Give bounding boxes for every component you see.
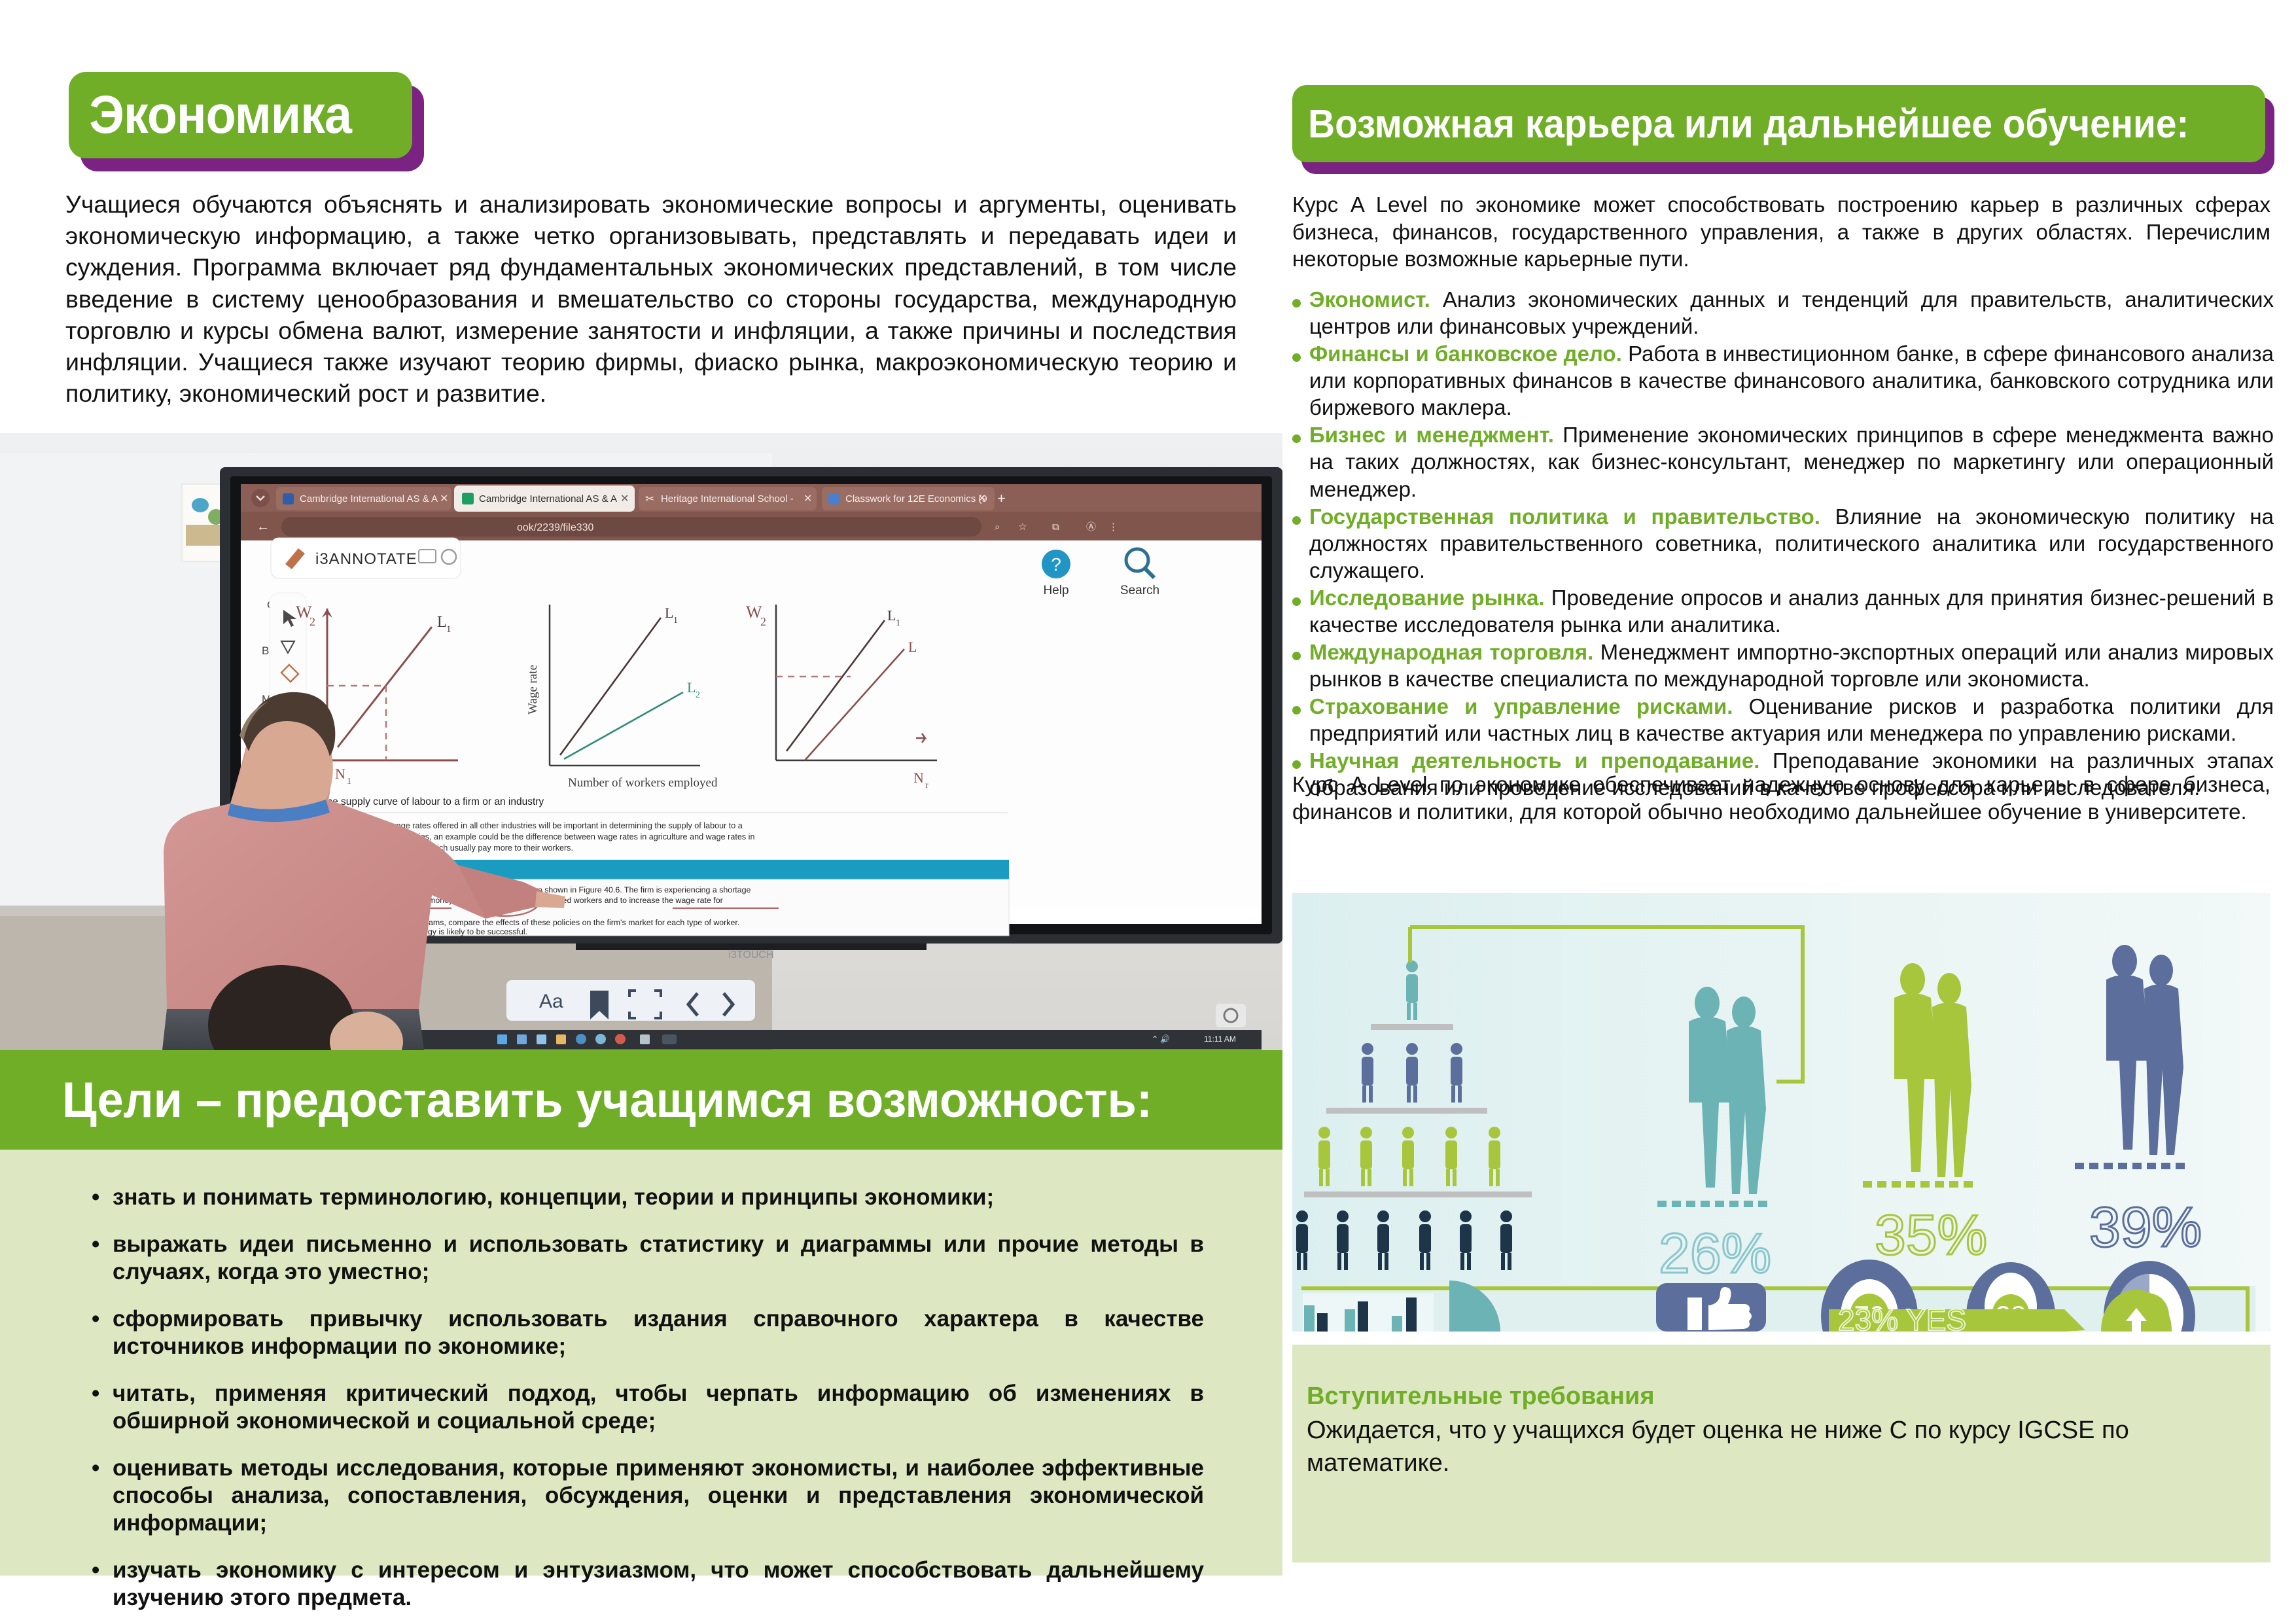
zoom-search-icon: ⌕ (995, 521, 1000, 533)
bullet-icon: • (92, 1455, 113, 1537)
svg-text:Cambridge International AS & A: Cambridge International AS & A (300, 493, 438, 504)
back-icon: ← (256, 520, 270, 534)
goal-item: • изучать экономику с интересом и энтузи… (92, 1557, 1204, 1612)
svg-text:1: 1 (446, 624, 451, 635)
bullet-icon: • (92, 1305, 113, 1360)
list-item: Экономист. Анализ экономических данных и… (1292, 286, 2274, 340)
svg-text:L: L (665, 605, 673, 621)
profile-icon: Ⓐ (1086, 521, 1096, 533)
svg-text:1: 1 (347, 777, 351, 786)
wall-poster (182, 484, 226, 561)
left-column: Экономика Учащиеся обучаются объяснять и… (0, 0, 1282, 1624)
goals-title: Цели – предоставить учащимся возможность… (0, 1072, 1152, 1129)
tab-list-chevron-icon (251, 489, 270, 507)
svg-text:Cambridge International AS & A: Cambridge International AS & A (479, 493, 617, 504)
list-item: Бизнес и менеджмент. Применение экономич… (1292, 421, 2274, 502)
svg-text:Help: Help (1043, 584, 1069, 597)
bullet-dot-icon (1292, 584, 1309, 638)
goal-item: • сформировать привычку использовать изд… (92, 1305, 1204, 1360)
list-item: Международная торговля. Менеджмент импор… (1292, 639, 2274, 692)
badge-front: Экономика (69, 72, 412, 158)
bullet-dot-icon (1292, 503, 1309, 584)
svg-text:The supply curve of labour to: The supply curve of labour to a firm or … (321, 796, 544, 807)
percent-label: 39% (2089, 1196, 2202, 1259)
goal-item: • знать и понимать терминологию, концепц… (92, 1184, 1204, 1211)
career-heading: Страхование и управление рисками. (1309, 694, 1733, 718)
svg-text:✕: ✕ (804, 493, 812, 504)
percent-label: 35% (1875, 1204, 1987, 1267)
taskbar-clock: 11:11 AM (1204, 1034, 1236, 1044)
careers-title-badge: Возможная карьера или дальнейшее обучени… (1292, 85, 2265, 162)
percent-label: 26% (1659, 1222, 1771, 1285)
subject-title-badge: Экономика (69, 72, 412, 158)
help-icon: ? Help (1042, 550, 1070, 597)
thumbs-up-icon (1656, 1283, 1766, 1332)
svg-text:L: L (687, 679, 696, 696)
overflow-menu-icon: ⋮ (1108, 521, 1118, 533)
svg-text:⌃ 🔊: ⌃ 🔊 (1152, 1034, 1170, 1044)
bullet-dot-icon (1292, 639, 1309, 692)
svg-text:1: 1 (673, 616, 678, 626)
career-heading: Международная торговля. (1309, 640, 1593, 664)
careers-title: Возможная карьера или дальнейшее обучени… (1292, 101, 2189, 147)
svg-text:23% YES: 23% YES (1838, 1303, 1966, 1332)
svg-text:N: N (913, 769, 924, 786)
svg-text:2: 2 (760, 615, 766, 628)
bullet-icon: • (92, 1231, 113, 1286)
right-column: Возможная карьера или дальнейшее обучени… (1282, 0, 2296, 1624)
bookmark-star-icon: ☆ (1018, 521, 1027, 533)
bullet-icon: • (92, 1557, 113, 1612)
mini-bar-chart (1303, 1294, 1434, 1332)
svg-text:L: L (437, 614, 447, 631)
svg-text:Number of workers employed: Number of workers employed (568, 776, 718, 790)
entry-requirements-panel: Вступительные требования Ожидается, что … (1292, 1345, 2270, 1562)
browser-tabstrip: Cambridge International AS & A ✕ Cambrid… (251, 485, 1006, 512)
camera-icon (1216, 1004, 1246, 1027)
careers-outro: Курс A Level по экономике обеспечивает н… (1292, 771, 2270, 825)
classroom-photo: Cambridge International AS & A ✕ Cambrid… (0, 433, 1282, 1050)
address-bar: ook/2239/file330 (517, 522, 594, 533)
svg-text:r: r (925, 781, 928, 790)
bullet-dot-icon (1292, 421, 1309, 502)
svg-text:2: 2 (696, 690, 700, 700)
entry-requirements-title: Вступительные требования (1307, 1383, 2242, 1411)
svg-text:i3ANNOTATE: i3ANNOTATE (315, 550, 417, 568)
bullet-dot-icon (1292, 693, 1309, 747)
goals-banner: Цели – предоставить учащимся возможность… (0, 1050, 1282, 1150)
entry-requirements-text: Ожидается, что у учащихся будет оценка н… (1307, 1414, 2242, 1479)
svg-text:Heritage International School: Heritage International School - (661, 493, 794, 504)
list-item: Страхование и управление рисками. Оценив… (1292, 693, 2274, 747)
svg-text:✕: ✕ (440, 493, 448, 504)
svg-text:2: 2 (309, 615, 315, 628)
career-heading: Исследование рынка. (1309, 586, 1545, 610)
bullet-icon: • (92, 1184, 113, 1211)
goal-item: • оценивать методы исследования, которые… (92, 1455, 1204, 1537)
list-item: Государственная политика и правительство… (1292, 503, 2274, 584)
goal-item: • выражать идеи письменно и использовать… (92, 1231, 1204, 1286)
career-heading: Бизнес и менеджмент. (1309, 423, 1554, 447)
font-size-button: Aa (539, 991, 563, 1012)
list-item: Исследование рынка. Проведение опросов и… (1292, 584, 2274, 638)
svg-text:1: 1 (896, 618, 900, 628)
i3annotate-toolbar: i3ANNOTATE (271, 538, 461, 578)
brochure-page: Экономика Учащиеся обучаются объяснять и… (0, 0, 2296, 1624)
badge-front: Возможная карьера или дальнейшее обучени… (1292, 85, 2265, 162)
svg-text:✕: ✕ (620, 493, 629, 504)
goals-list: • знать и понимать терминологию, концепц… (92, 1184, 1204, 1624)
bullet-dot-icon (1292, 340, 1309, 421)
careers-intro: Курс A Level по экономике может способст… (1292, 191, 2270, 273)
career-text: Анализ экономических данных и тенденций … (1309, 287, 2274, 338)
page-title: Экономика (69, 84, 351, 146)
svg-text:✂: ✂ (645, 493, 654, 505)
bullet-icon: • (92, 1380, 113, 1435)
new-tab-button: + (997, 490, 1006, 506)
svg-text:Classwork for 12E Economics (9: Classwork for 12E Economics (9 (845, 493, 987, 504)
list-item: Финансы и банковское дело. Работа в инве… (1292, 340, 2274, 421)
career-heading: Экономист. (1309, 287, 1430, 311)
career-heading: Финансы и банковское дело. (1309, 342, 1622, 366)
bullet-dot-icon (1292, 286, 1309, 340)
extensions-icon: ⧉ (1052, 521, 1059, 533)
svg-text:N: N (335, 766, 345, 782)
career-heading: Научная деятельность и преподавание. (1309, 749, 1759, 773)
career-heading: Государственная политика и правительство… (1309, 504, 1820, 529)
display-brand: i3TOUCH (728, 949, 773, 961)
goal-item: • читать, применяя критический подход, ч… (92, 1380, 1204, 1435)
svg-text:Search: Search (1120, 584, 1159, 597)
goals-panel: • знать и понимать терминологию, концепц… (0, 1150, 1282, 1576)
business-infographic: 26% 35% (1292, 893, 2270, 1332)
intro-paragraph: Учащиеся обучаются объяснять и анализиро… (65, 188, 1237, 409)
svg-text:L: L (908, 639, 917, 655)
windows-start-icon (497, 1034, 507, 1044)
svg-text:✕: ✕ (978, 493, 986, 504)
svg-text:?: ? (1051, 554, 1061, 574)
careers-list: Экономист. Анализ экономических данных и… (1292, 286, 2274, 802)
reader-toolbar: Aa (506, 980, 755, 1021)
svg-text:Wage rate: Wage rate (526, 665, 540, 715)
svg-text:L: L (887, 607, 896, 624)
